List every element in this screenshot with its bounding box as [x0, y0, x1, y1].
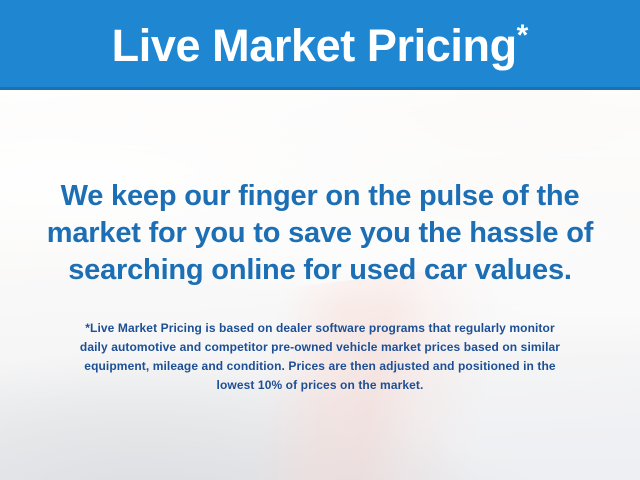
page-title-asterisk: *: [517, 19, 529, 52]
live-market-pricing-banner: Live Market Pricing* We keep our finger …: [0, 0, 640, 480]
headline-line-2: market for you to save you the hassle of: [24, 215, 616, 252]
page-title-text: Live Market Pricing: [112, 20, 517, 71]
headline-line-3: searching online for used car values.: [24, 252, 616, 289]
disclaimer-line-3: equipment, mileage and condition. Prices…: [18, 357, 622, 376]
headline: We keep our finger on the pulse of the m…: [0, 178, 640, 289]
headline-line-1: We keep our finger on the pulse of the: [24, 178, 616, 215]
header-bar: Live Market Pricing*: [0, 0, 640, 90]
disclaimer-line-2: daily automotive and competitor pre-owne…: [18, 338, 622, 357]
page-title: Live Market Pricing*: [112, 21, 529, 68]
disclaimer-line-1: *Live Market Pricing is based on dealer …: [18, 319, 622, 338]
disclaimer-text: *Live Market Pricing is based on dealer …: [0, 319, 640, 395]
disclaimer-line-4: lowest 10% of prices on the market.: [18, 376, 622, 395]
